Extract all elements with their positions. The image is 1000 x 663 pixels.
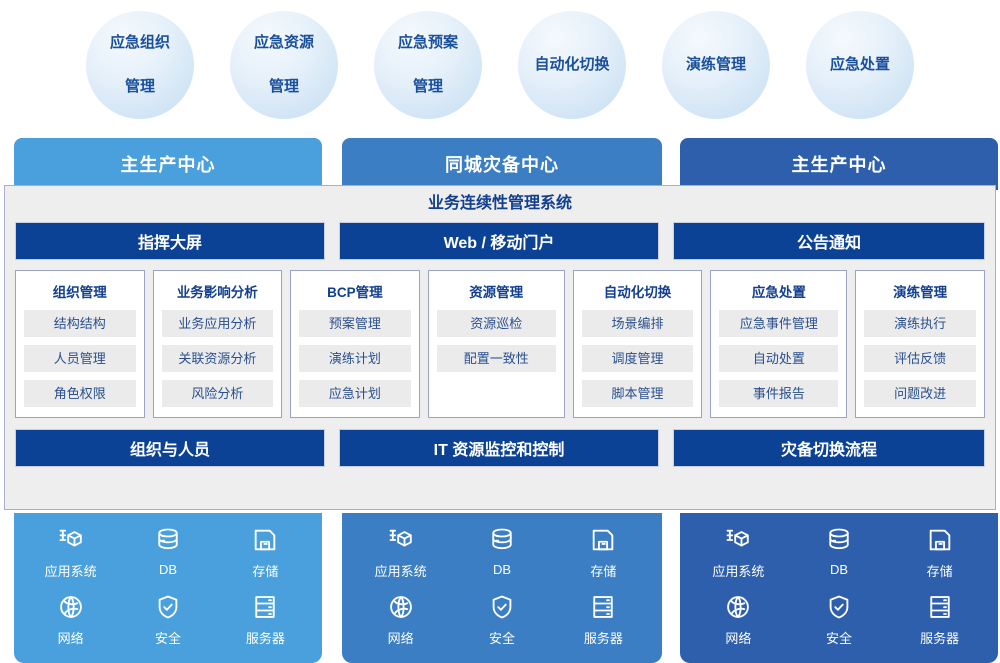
circle-line-1: 应急预案 — [388, 32, 468, 54]
module-title: 自动化切换 — [582, 279, 694, 310]
infra-item-server[interactable]: 服务器 — [217, 586, 314, 653]
infra-item-application-system[interactable]: 应用系统 — [350, 519, 451, 586]
module-emergency-response[interactable]: 应急处置 应急事件管理 自动处置 事件报告 — [710, 270, 847, 418]
infra-item-label: 网络 — [725, 631, 751, 646]
database-icon — [789, 526, 890, 556]
security-shield-icon — [451, 593, 552, 623]
infra-item-label: 安全 — [489, 631, 515, 646]
module-title: 资源管理 — [437, 279, 556, 310]
network-globe-icon — [688, 593, 789, 623]
storage-icon — [553, 526, 654, 556]
module-title: 应急处置 — [719, 279, 838, 310]
infra-item-application-system[interactable]: 应用系统 — [22, 519, 119, 586]
circle-line-1: 应急组织 — [100, 32, 180, 54]
network-globe-icon — [22, 593, 119, 623]
infra-item-database[interactable]: DB — [789, 519, 890, 586]
module-item[interactable]: 自动处置 — [719, 345, 838, 372]
infra-item-label: 存储 — [252, 564, 278, 579]
module-columns: 组织管理 结构结构 人员管理 角色权限 业务影响分析 业务应用分析 关联资源分析… — [5, 260, 995, 418]
infra-item-label: 应用系统 — [712, 564, 764, 579]
infra-item-network[interactable]: 网络 — [688, 586, 789, 653]
infrastructure-panel-primary-production: 应用系统 DB — [14, 513, 322, 663]
capability-circle[interactable]: 自动化切换 — [518, 11, 626, 119]
module-item[interactable]: 应急计划 — [299, 380, 411, 407]
module-resource-management[interactable]: 资源管理 资源巡检 配置一致性 — [428, 270, 565, 418]
application-system-icon — [22, 526, 119, 556]
infra-item-label: 应用系统 — [45, 564, 97, 579]
circle-line-1: 自动化切换 — [524, 54, 619, 76]
infra-item-label: 存储 — [927, 564, 953, 579]
module-item[interactable]: 场景编排 — [582, 310, 694, 337]
infra-item-label: 存储 — [590, 564, 616, 579]
infra-item-label: 网络 — [58, 631, 84, 646]
module-bcp-management[interactable]: BCP管理 预案管理 演练计划 应急计划 — [290, 270, 420, 418]
infra-item-storage[interactable]: 存储 — [553, 519, 654, 586]
storage-icon — [217, 526, 314, 556]
circle-line-2: 管理 — [100, 76, 180, 98]
platform-bottom-bars: 组织与人员 IT 资源监控和控制 灾备切换流程 — [5, 418, 995, 467]
bar-announcement[interactable]: 公告通知 — [673, 222, 985, 260]
module-title: BCP管理 — [299, 279, 411, 310]
circle-line-1: 应急资源 — [244, 32, 324, 54]
bar-dr-switch-process[interactable]: 灾备切换流程 — [673, 429, 985, 467]
platform-title: 业务连续性管理系统 — [5, 186, 995, 222]
bar-command-screen[interactable]: 指挥大屏 — [15, 222, 325, 260]
security-shield-icon — [789, 593, 890, 623]
capability-circle[interactable]: 应急预案管理 — [374, 11, 482, 119]
infra-item-label: DB — [159, 562, 177, 577]
data-center-headers: 主生产中心 同城灾备中心 主生产中心 — [0, 138, 1000, 190]
infrastructure-panel-primary-production-2: 应用系统 DB — [680, 513, 998, 663]
infra-item-application-system[interactable]: 应用系统 — [688, 519, 789, 586]
module-item[interactable]: 业务应用分析 — [162, 310, 274, 337]
circle-line-1: 应急处置 — [820, 54, 900, 76]
storage-icon — [889, 526, 990, 556]
bar-web-mobile-portal[interactable]: Web / 移动门户 — [339, 222, 659, 260]
infra-item-label: DB — [830, 562, 848, 577]
module-item[interactable]: 资源巡检 — [437, 310, 556, 337]
infrastructure-row: 应用系统 DB — [0, 513, 1000, 663]
security-shield-icon — [119, 593, 216, 623]
infra-item-security[interactable]: 安全 — [451, 586, 552, 653]
infra-item-label: 安全 — [155, 631, 181, 646]
module-item[interactable]: 预案管理 — [299, 310, 411, 337]
infra-item-server[interactable]: 服务器 — [553, 586, 654, 653]
center-header-primary-production-2[interactable]: 主生产中心 — [680, 138, 998, 190]
module-title: 组织管理 — [24, 279, 136, 310]
module-item[interactable]: 演练计划 — [299, 345, 411, 372]
center-header-metro-dr[interactable]: 同城灾备中心 — [342, 138, 662, 190]
capability-circle[interactable]: 演练管理 — [662, 11, 770, 119]
infra-item-network[interactable]: 网络 — [350, 586, 451, 653]
capability-circle[interactable]: 应急处置 — [806, 11, 914, 119]
module-item[interactable]: 风险分析 — [162, 380, 274, 407]
capability-circle[interactable]: 应急资源管理 — [230, 11, 338, 119]
circle-line-2: 管理 — [388, 76, 468, 98]
infra-item-label: 应用系统 — [375, 564, 427, 579]
module-title: 演练管理 — [864, 279, 976, 310]
infra-item-database[interactable]: DB — [119, 519, 216, 586]
infra-item-label: DB — [493, 562, 511, 577]
database-icon — [119, 526, 216, 556]
module-item[interactable]: 脚本管理 — [582, 380, 694, 407]
module-automated-switchover[interactable]: 自动化切换 场景编排 调度管理 脚本管理 — [573, 270, 703, 418]
module-item-placeholder — [437, 380, 556, 407]
infra-item-label: 服务器 — [246, 631, 285, 646]
infra-item-label: 网络 — [388, 631, 414, 646]
module-item[interactable]: 配置一致性 — [437, 345, 556, 372]
infrastructure-panel-metro-dr: 应用系统 DB — [342, 513, 662, 663]
module-drill-management[interactable]: 演练管理 演练执行 评估反馈 问题改进 — [855, 270, 985, 418]
circle-line-1: 演练管理 — [676, 54, 756, 76]
infra-item-server[interactable]: 服务器 — [889, 586, 990, 653]
center-header-primary-production[interactable]: 主生产中心 — [14, 138, 322, 190]
infra-item-storage[interactable]: 存储 — [217, 519, 314, 586]
circle-line-2: 管理 — [244, 76, 324, 98]
infra-item-label: 服务器 — [584, 631, 623, 646]
bcm-platform-panel: 业务连续性管理系统 指挥大屏 Web / 移动门户 公告通知 组织管理 结构结构… — [4, 185, 996, 510]
module-item[interactable]: 评估反馈 — [864, 345, 976, 372]
application-system-icon — [688, 526, 789, 556]
module-item[interactable]: 角色权限 — [24, 380, 136, 407]
module-item[interactable]: 人员管理 — [24, 345, 136, 372]
infra-item-security[interactable]: 安全 — [119, 586, 216, 653]
server-rack-icon — [217, 593, 314, 623]
infra-item-network[interactable]: 网络 — [22, 586, 119, 653]
application-system-icon — [350, 526, 451, 556]
infra-item-label: 安全 — [826, 631, 852, 646]
module-item[interactable]: 结构结构 — [24, 310, 136, 337]
module-business-impact-analysis[interactable]: 业务影响分析 业务应用分析 关联资源分析 风险分析 — [153, 270, 283, 418]
server-rack-icon — [553, 593, 654, 623]
module-org-management[interactable]: 组织管理 结构结构 人员管理 角色权限 — [15, 270, 145, 418]
architecture-diagram: 应急组织管理 应急资源管理 应急预案管理 自动化切换 演练管理 应急处置 主生产… — [0, 0, 1000, 663]
module-item[interactable]: 事件报告 — [719, 380, 838, 407]
capability-circles-row: 应急组织管理 应急资源管理 应急预案管理 自动化切换 演练管理 应急处置 — [0, 0, 1000, 130]
server-rack-icon — [889, 593, 990, 623]
infra-item-security[interactable]: 安全 — [789, 586, 890, 653]
database-icon — [451, 526, 552, 556]
infra-item-label: 服务器 — [920, 631, 959, 646]
module-item[interactable]: 应急事件管理 — [719, 310, 838, 337]
platform-top-bars: 指挥大屏 Web / 移动门户 公告通知 — [5, 222, 995, 260]
bar-org-and-people[interactable]: 组织与人员 — [15, 429, 325, 467]
module-item[interactable]: 调度管理 — [582, 345, 694, 372]
module-item[interactable]: 演练执行 — [864, 310, 976, 337]
infra-item-database[interactable]: DB — [451, 519, 552, 586]
module-title: 业务影响分析 — [162, 279, 274, 310]
bar-it-resource-monitoring[interactable]: IT 资源监控和控制 — [339, 429, 659, 467]
capability-circle[interactable]: 应急组织管理 — [86, 11, 194, 119]
module-item[interactable]: 问题改进 — [864, 380, 976, 407]
module-item[interactable]: 关联资源分析 — [162, 345, 274, 372]
infra-item-storage[interactable]: 存储 — [889, 519, 990, 586]
network-globe-icon — [350, 593, 451, 623]
